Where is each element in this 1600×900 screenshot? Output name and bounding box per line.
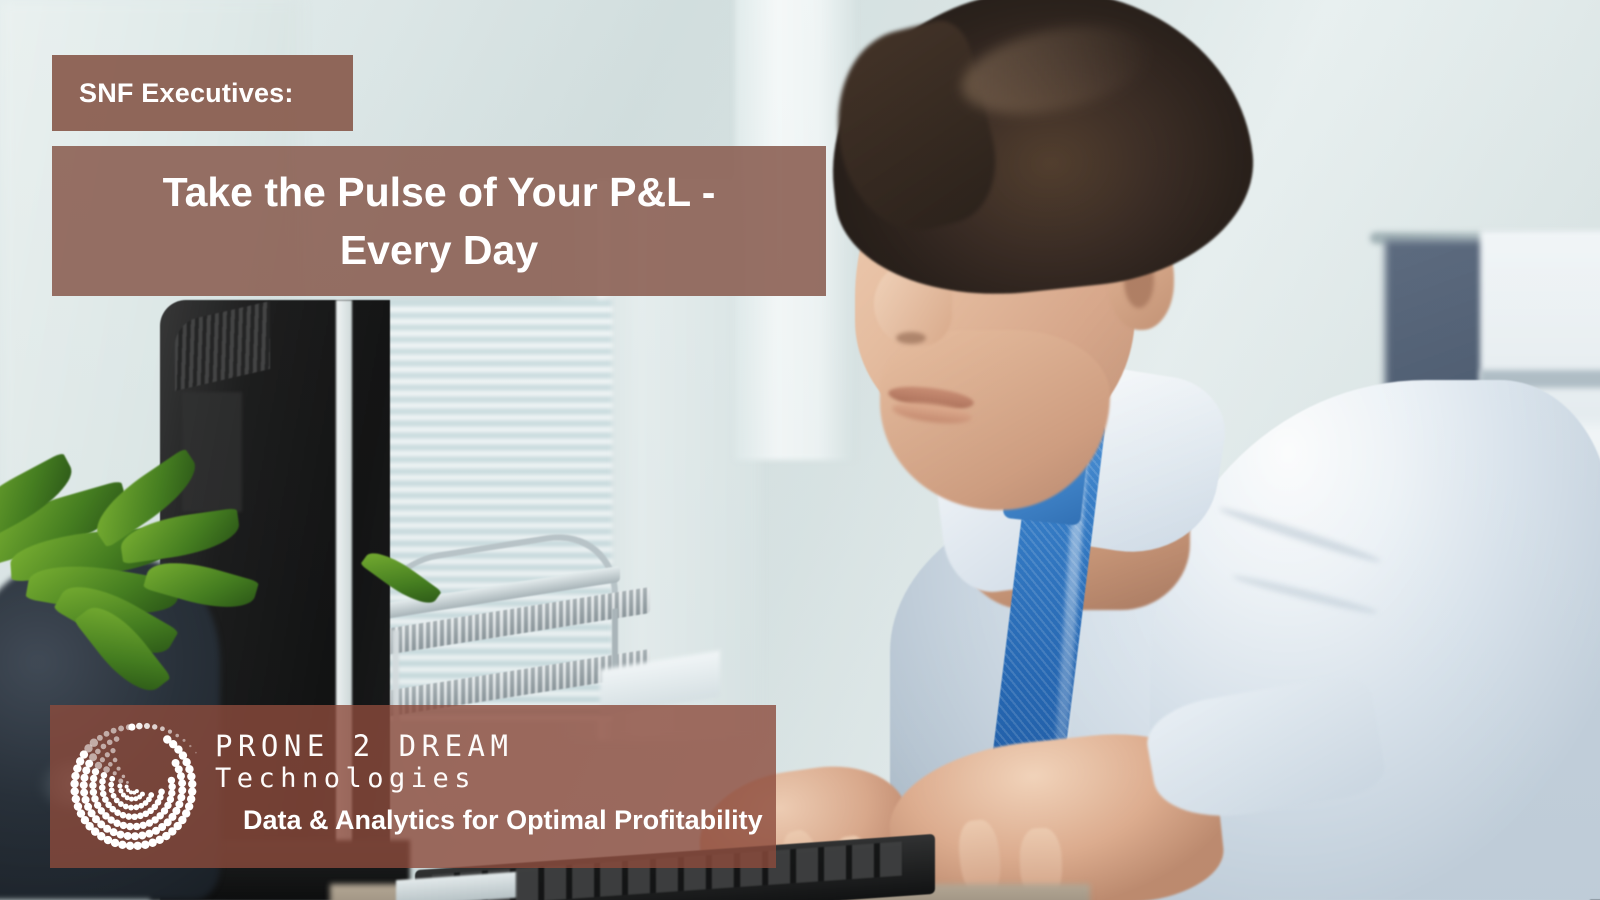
- headline-line-1: Take the Pulse of Your P&L -: [163, 169, 716, 215]
- brand-name-primary: PRONE 2 DREAM: [215, 731, 513, 761]
- headline-line-2: Every Day: [340, 227, 538, 273]
- eyebrow-label: SNF Executives:: [52, 80, 294, 107]
- nostril: [896, 332, 926, 344]
- eyebrow-badge: SNF Executives:: [52, 55, 353, 131]
- promotional-banner-image: SNF Executives: Take the Pulse of Your P…: [0, 0, 1600, 900]
- brand-name-secondary: Technologies: [215, 761, 513, 796]
- brand-wordmark: PRONE 2 DREAM Technologies: [215, 731, 513, 797]
- spiral-dot-fingerprint-logo: [64, 717, 204, 857]
- headline-banner: Take the Pulse of Your P&L - Every Day: [52, 146, 826, 296]
- logo-banner: PRONE 2 DREAM Technologies Data & Analyt…: [50, 705, 776, 868]
- brand-tagline: Data & Analytics for Optimal Profitabili…: [243, 805, 763, 836]
- headline-text: Take the Pulse of Your P&L - Every Day: [109, 163, 769, 279]
